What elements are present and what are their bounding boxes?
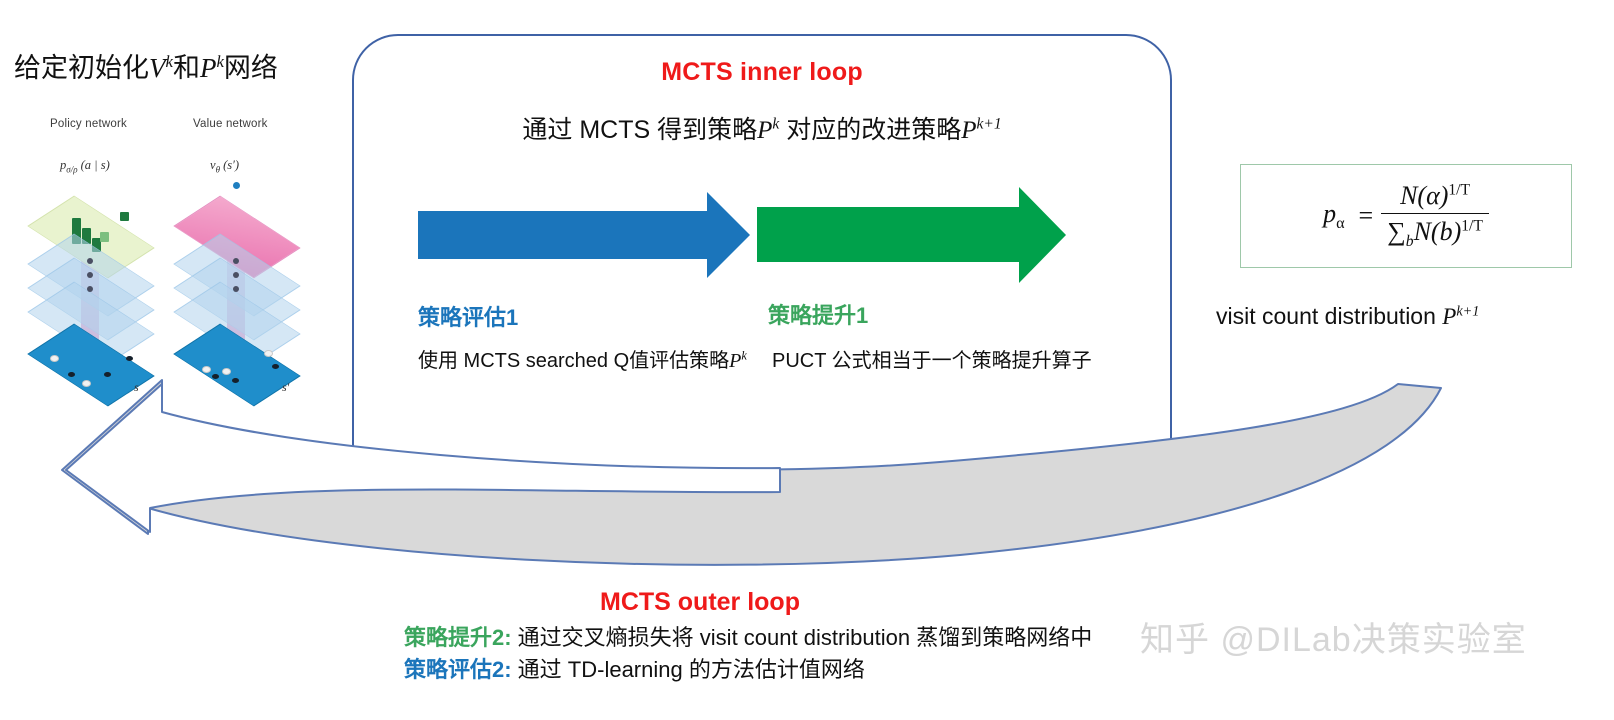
policy-network-formula: pσ/ρ (a | s) — [60, 158, 110, 175]
policy-improvement-label: 策略提升1 — [768, 298, 868, 330]
value-network-caption: Value network — [193, 118, 268, 130]
outer-loop-tag-evaluation: 策略评估2: — [404, 657, 512, 682]
policy-improvement-description: PUCT 公式相当于一个策略提升算子 — [772, 344, 1092, 373]
ellipsis-dot — [87, 272, 93, 278]
page-title-p-symbol: Pk — [200, 53, 224, 83]
subtitle-policy-k: Pk — [757, 117, 779, 144]
ellipsis-dot — [87, 258, 93, 264]
value-state-label: s′ — [282, 380, 289, 395]
policy-bar — [100, 232, 109, 242]
policy-network-caption: Policy network — [50, 118, 127, 130]
visit-count-symbol: Pk+1 — [1442, 304, 1479, 329]
page-title-prefix: 给定初始化 — [14, 53, 149, 83]
policy-network-stack: s — [30, 180, 150, 395]
policy-bar — [120, 212, 129, 221]
improve-desc-text: PUCT 公式相当于一个策略提升算子 — [772, 350, 1092, 372]
go-stone — [126, 356, 133, 361]
go-stone — [202, 366, 211, 373]
outer-loop-text-evaluation: 通过 TD-learning 的方法估计值网络 — [512, 657, 865, 682]
formula-equals: = — [1359, 201, 1374, 231]
go-stone — [212, 374, 219, 379]
value-network-formula: vθ (s′) — [210, 158, 239, 175]
page-title-suffix: 网络 — [224, 53, 278, 83]
go-stone — [50, 355, 59, 362]
watermark: 知乎 @DILab决策实验室 — [1140, 612, 1527, 661]
go-stone — [104, 372, 111, 377]
visit-count-distribution-label: visit count distribution Pk+1 — [1216, 303, 1479, 330]
value-network-stack: s′ — [176, 180, 296, 395]
go-stone — [82, 380, 91, 387]
ellipsis-dot — [233, 286, 239, 292]
formula-denominator: ∑bN(b)1/T — [1381, 213, 1489, 251]
eval-desc-text: 使用 MCTS searched Q值评估策略 — [418, 350, 729, 372]
alphago-network-figure: Policy network Value network pσ/ρ (a | s… — [28, 118, 318, 388]
go-stone — [232, 378, 239, 383]
ellipsis-dot — [87, 286, 93, 292]
mcts-inner-loop-title: MCTS inner loop — [352, 58, 1172, 87]
policy-evaluation-description: 使用 MCTS searched Q值评估策略Pk — [418, 344, 747, 373]
go-stone — [264, 350, 273, 357]
eval-desc-symbol: Pk — [729, 350, 747, 372]
go-stone — [68, 372, 75, 377]
page-title-mid: 和 — [173, 53, 200, 83]
go-stone — [272, 364, 279, 369]
outer-loop-line-improvement: 策略提升2: 通过交叉熵损失将 visit count distribution… — [404, 620, 1092, 652]
policy-state-label: s — [134, 380, 139, 395]
visit-count-text: visit count distribution — [1216, 303, 1442, 329]
visit-count-formula-box: pα = N(α)1/T ∑bN(b)1/T — [1240, 164, 1572, 268]
ellipsis-dot — [233, 258, 239, 264]
subtitle-part2: 对应的改进策略 — [779, 116, 961, 144]
page-title: 给定初始化Vk和Pk网络 — [14, 52, 344, 86]
formula-fraction: N(α)1/T ∑bN(b)1/T — [1381, 181, 1489, 251]
mcts-inner-loop-subtitle: 通过 MCTS 得到策略Pk 对应的改进策略Pk+1 — [352, 110, 1172, 146]
ellipsis-dot — [233, 272, 239, 278]
value-output-node — [233, 182, 240, 189]
policy-evaluation-label: 策略评估1 — [418, 300, 518, 332]
formula-numerator: N(α)1/T — [1394, 181, 1476, 213]
outer-loop-tag-improvement: 策略提升2: — [404, 625, 512, 650]
subtitle-part1: 通过 MCTS 得到策略 — [522, 116, 757, 144]
outer-loop-line-evaluation: 策略评估2: 通过 TD-learning 的方法估计值网络 — [404, 652, 865, 684]
formula-lhs: pα — [1323, 199, 1344, 233]
mcts-inner-loop-panel — [352, 34, 1172, 490]
visit-count-formula: pα = N(α)1/T ∑bN(b)1/T — [1323, 181, 1489, 251]
subtitle-policy-k1: Pk+1 — [961, 117, 1001, 144]
outer-loop-text-improvement: 通过交叉熵损失将 visit count distribution 蒸馏到策略网… — [512, 625, 1093, 650]
go-stone — [222, 368, 231, 375]
page-title-v-symbol: Vk — [149, 53, 173, 83]
mcts-outer-loop-title: MCTS outer loop — [390, 588, 1010, 617]
